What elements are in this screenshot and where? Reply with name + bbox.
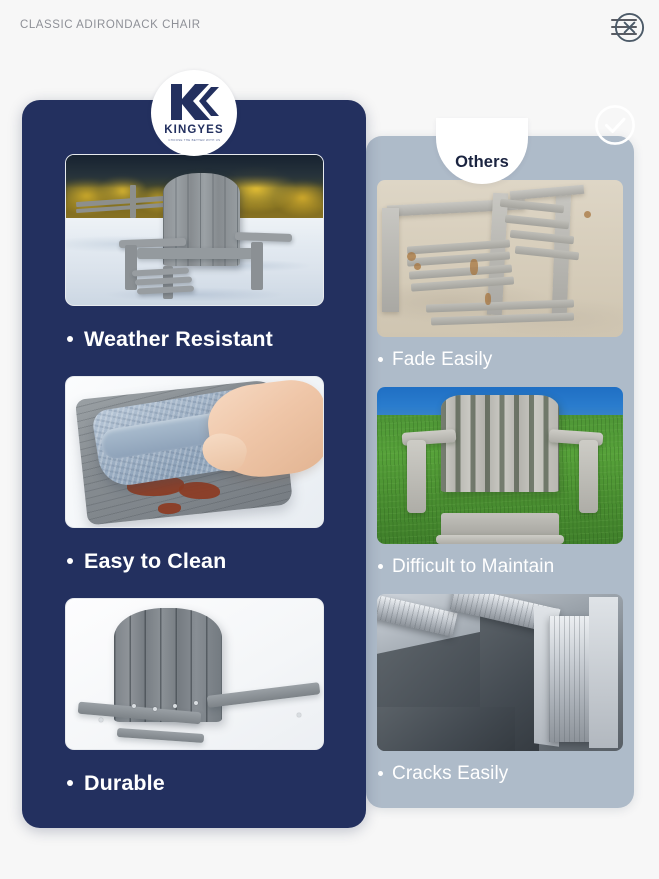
list-item: Cracks Easily <box>366 594 634 796</box>
kingyes-k-monogram-icon <box>168 83 220 121</box>
list-item: Weather Resistant <box>22 154 366 372</box>
check-circle-icon[interactable] <box>594 104 636 146</box>
brand-feature-image-3 <box>65 598 324 750</box>
brand-name: KINGYES <box>164 124 223 136</box>
bullet-icon <box>378 564 383 569</box>
brand-feature-label-1: Weather Resistant <box>22 306 366 372</box>
brand-feature-image-1 <box>65 154 324 306</box>
others-feature-image-2 <box>377 387 623 544</box>
list-item: Durable <box>22 598 366 816</box>
others-feature-image-1 <box>377 180 623 337</box>
brand-panel: Weather Resistant <box>22 100 366 828</box>
bullet-icon <box>67 780 73 786</box>
others-badge-label: Others <box>455 153 509 172</box>
list-item: Difficult to Maintain <box>366 387 634 589</box>
others-feature-label-3: Cracks Easily <box>366 751 634 796</box>
bullet-icon <box>67 336 73 342</box>
brand-feature-image-2 <box>65 376 324 528</box>
list-item: Fade Easily <box>366 180 634 382</box>
brand-feature-label-2: Easy to Clean <box>22 528 366 594</box>
comparison-stage: Fade Easily <box>0 0 659 879</box>
others-feature-label-1: Fade Easily <box>366 337 634 382</box>
list-item: Easy to Clean <box>22 376 366 594</box>
others-panel: Fade Easily <box>366 136 634 808</box>
brand-feature-label-3: Durable <box>22 750 366 816</box>
others-feature-image-3 <box>377 594 623 751</box>
brand-badge: KINGYES CHOOSE THE BETTER WITH US <box>151 70 237 156</box>
bullet-icon <box>67 558 73 564</box>
bullet-icon <box>378 771 383 776</box>
bullet-icon <box>378 357 383 362</box>
others-feature-list: Fade Easily <box>366 180 634 801</box>
others-feature-label-2: Difficult to Maintain <box>366 544 634 589</box>
close-circle-icon[interactable] <box>614 12 645 43</box>
brand-tagline: CHOOSE THE BETTER WITH US <box>168 138 220 142</box>
brand-feature-list: Weather Resistant <box>22 154 366 820</box>
